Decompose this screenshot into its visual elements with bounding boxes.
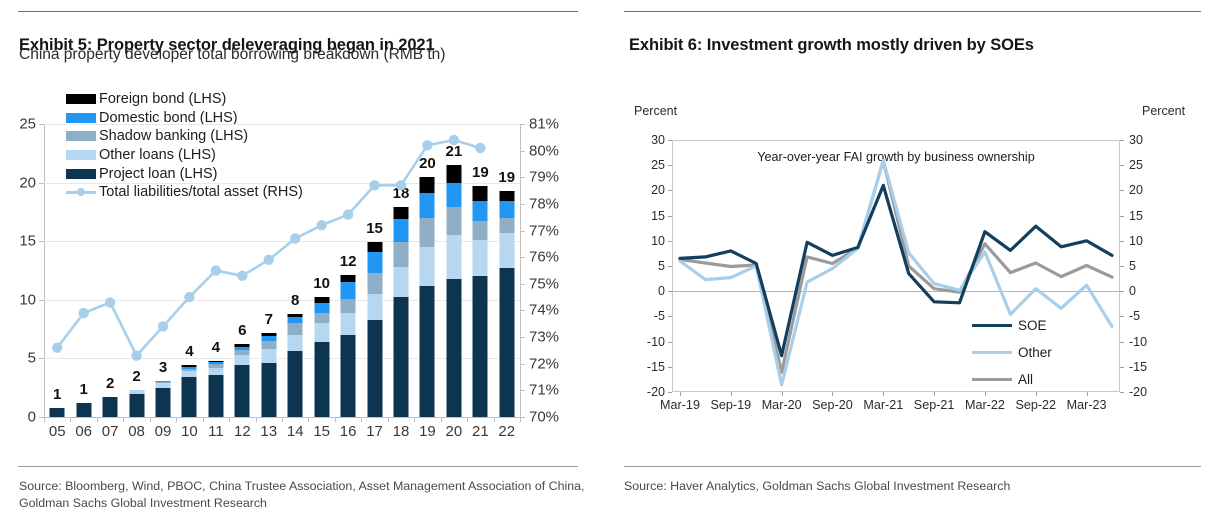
panel-bottom-rule <box>624 466 1201 467</box>
chart1-ratio-line <box>44 124 520 417</box>
ratio-line-marker <box>105 297 115 307</box>
x-axis-tick-label: 16 <box>340 423 357 440</box>
axis-tick <box>934 392 935 396</box>
legend-line-soe <box>972 324 1012 327</box>
legend-swatch <box>66 94 96 104</box>
y-axis-tick-label: 15 <box>19 233 36 250</box>
x-axis-tick-label: 19 <box>419 423 436 440</box>
y-axis-tick-label: 30 <box>651 133 665 147</box>
y2-axis-tick-label: 72% <box>529 355 559 372</box>
panel-top-rule <box>624 11 1201 12</box>
axis-tick <box>520 177 525 178</box>
y-axis-tick-label: 0 <box>28 409 36 426</box>
y-axis-tick-label: -5 <box>654 309 665 323</box>
ratio-line-marker <box>449 135 459 145</box>
axis-tick <box>388 417 389 422</box>
y-axis-tick-label: -10 <box>647 335 665 349</box>
ratio-line-marker <box>158 321 168 331</box>
x-axis-tick-label: 17 <box>366 423 383 440</box>
x-axis-tick-label: 21 <box>472 423 489 440</box>
x-axis-tick-label: Sep-22 <box>1015 398 1056 412</box>
y-axis-tick-label: -15 <box>647 360 665 374</box>
legend-item: All <box>972 366 1052 393</box>
y2-axis-tick-label: 74% <box>529 302 559 319</box>
y2-axis-tick-label: 78% <box>529 195 559 212</box>
y2-axis-tick-label: -20 <box>1129 385 1147 399</box>
axis-tick <box>1120 216 1124 217</box>
x-axis-tick-label: 20 <box>446 423 463 440</box>
chart-subtitle: China property developer total borrowing… <box>19 46 445 64</box>
axis-tick <box>123 417 124 422</box>
axis-tick <box>150 417 151 422</box>
x-axis-tick-label: 12 <box>234 423 251 440</box>
axis-tick <box>1087 392 1088 396</box>
ratio-line-marker <box>317 220 327 230</box>
page-title: Exhibit 6: Investment growth mostly driv… <box>629 36 1034 55</box>
legend-label: All <box>1018 372 1033 387</box>
axis-tick <box>70 417 71 422</box>
axis-tick <box>256 417 257 422</box>
axis-tick <box>1120 140 1124 141</box>
x-axis-tick-label: Mar-19 <box>660 398 700 412</box>
y2-axis-tick-label: 30 <box>1129 133 1143 147</box>
ratio-line-marker <box>422 140 432 150</box>
x-axis-tick-label: 14 <box>287 423 304 440</box>
legend-item: SOE <box>972 312 1052 339</box>
x-axis-tick-label: Mar-20 <box>762 398 802 412</box>
y2-axis-tick-label: 75% <box>529 275 559 292</box>
axis-tick <box>441 417 442 422</box>
legend-label: Other <box>1018 345 1052 360</box>
ratio-line-marker <box>290 233 300 243</box>
axis-tick <box>520 124 525 125</box>
exhibit-page: Exhibit 5: Property sector deleveraging … <box>0 0 1209 522</box>
legend-line-all <box>972 378 1012 381</box>
exhibit-5-panel: Exhibit 5: Property sector deleveraging … <box>0 0 600 522</box>
y-axis-tick-label: 20 <box>19 174 36 191</box>
x-axis-tick-label: 06 <box>75 423 92 440</box>
axis-tick <box>1120 316 1124 317</box>
x-axis-tick-label: Mar-21 <box>863 398 903 412</box>
y-axis-tick-label: 15 <box>651 209 665 223</box>
axis-tick <box>731 392 732 396</box>
legend-line-other <box>972 351 1012 354</box>
y2-axis-tick-label: 79% <box>529 169 559 186</box>
y2-axis-tick-label: 71% <box>529 382 559 399</box>
axis-tick <box>680 392 681 396</box>
x-axis-tick-label: 08 <box>128 423 145 440</box>
axis-tick <box>361 417 362 422</box>
y2-axis-tick-label: 81% <box>529 116 559 133</box>
legend-swatch <box>66 113 96 123</box>
y2-axis-tick-label: 80% <box>529 142 559 159</box>
legend-label: Foreign bond (LHS) <box>99 91 226 107</box>
x-axis-tick-label: 10 <box>181 423 198 440</box>
ratio-line-path <box>57 140 480 356</box>
axis-tick <box>520 364 525 365</box>
y2-axis-tick-label: 20 <box>1129 183 1143 197</box>
axis-tick <box>1120 266 1124 267</box>
axis-tick <box>520 337 525 338</box>
x-axis-tick-label: Sep-20 <box>812 398 853 412</box>
ratio-line-marker <box>343 209 353 219</box>
ratio-line-marker <box>184 292 194 302</box>
x-axis-tick-label: Mar-22 <box>965 398 1005 412</box>
fai-growth-chart: Year-over-year FAI growth by business ow… <box>672 140 1120 392</box>
y2-axis-tick-label: -15 <box>1129 360 1147 374</box>
ratio-line-marker <box>211 265 221 275</box>
x-axis-tick-label: Sep-19 <box>711 398 752 412</box>
y-axis-tick-label: -20 <box>647 385 665 399</box>
x-axis-tick-label: 18 <box>393 423 410 440</box>
chart2-right-unit-label: Percent <box>1142 104 1185 118</box>
x-axis-tick-label: 11 <box>208 423 224 440</box>
axis-tick <box>1120 165 1124 166</box>
y2-axis-tick-label: 73% <box>529 329 559 346</box>
axis-tick <box>1120 241 1124 242</box>
ratio-line-marker <box>369 180 379 190</box>
y2-axis-tick-label: 70% <box>529 409 559 426</box>
ratio-line-marker <box>396 180 406 190</box>
source-note: Source: Bloomberg, Wind, PBOC, China Tru… <box>19 478 594 512</box>
axis-tick <box>668 392 672 393</box>
axis-tick <box>1120 342 1124 343</box>
chart2-series-lines <box>672 140 1120 392</box>
property-borrowing-chart: 0510152025 70%71%72%73%74%75%76%77%78%79… <box>44 124 520 417</box>
ratio-line-marker <box>237 271 247 281</box>
legend-item: Other <box>972 339 1052 366</box>
axis-tick <box>520 204 525 205</box>
x-axis-tick-label: 15 <box>313 423 330 440</box>
axis-tick <box>782 392 783 396</box>
y-axis-tick-label: 25 <box>651 158 665 172</box>
axis-tick <box>883 392 884 396</box>
axis-tick <box>494 417 495 422</box>
chart1-right-axis <box>520 124 521 417</box>
y-axis-tick-label: 25 <box>19 116 36 133</box>
axis-tick <box>282 417 283 422</box>
x-axis-tick-label: 09 <box>155 423 172 440</box>
axis-tick <box>203 417 204 422</box>
axis-tick <box>520 284 525 285</box>
axis-tick <box>414 417 415 422</box>
x-axis-tick-label: 13 <box>260 423 277 440</box>
x-axis-tick-label: 07 <box>102 423 119 440</box>
y-axis-tick-label: 20 <box>651 183 665 197</box>
y2-axis-tick-label: 15 <box>1129 209 1143 223</box>
ratio-line-marker <box>264 255 274 265</box>
y-axis-tick-label: 5 <box>658 259 665 273</box>
x-axis-tick-label: Sep-21 <box>914 398 955 412</box>
y2-axis-tick-label: 10 <box>1129 234 1143 248</box>
axis-tick <box>520 390 525 391</box>
y2-axis-tick-label: -10 <box>1129 335 1147 349</box>
x-axis-tick-label: 22 <box>498 423 515 440</box>
legend-item: Foreign bond (LHS) <box>66 90 303 109</box>
y2-axis-tick-label: 76% <box>529 249 559 266</box>
chart2-left-unit-label: Percent <box>634 104 677 118</box>
axis-tick <box>308 417 309 422</box>
axis-tick <box>229 417 230 422</box>
axis-tick <box>44 417 45 422</box>
ratio-line-marker <box>131 351 141 361</box>
axis-tick <box>520 257 525 258</box>
y2-axis-tick-label: 77% <box>529 222 559 239</box>
legend-label: SOE <box>1018 318 1047 333</box>
y-axis-tick-label: 5 <box>28 350 36 367</box>
panel-bottom-rule <box>18 466 578 467</box>
chart2-legend: SOEOtherAll <box>972 312 1052 393</box>
y2-axis-tick-label: 25 <box>1129 158 1143 172</box>
axis-tick <box>520 231 525 232</box>
axis-tick <box>520 310 525 311</box>
axis-tick <box>520 151 525 152</box>
ratio-line-marker <box>475 143 485 153</box>
y2-axis-tick-label: 0 <box>1129 284 1136 298</box>
y2-axis-tick-label: 5 <box>1129 259 1136 273</box>
y2-axis-tick-label: -5 <box>1129 309 1140 323</box>
axis-tick <box>520 417 521 422</box>
x-axis-tick-label: 05 <box>49 423 66 440</box>
axis-tick <box>1120 291 1124 292</box>
axis-tick <box>1120 190 1124 191</box>
axis-tick <box>176 417 177 422</box>
axis-tick <box>97 417 98 422</box>
y-axis-tick-label: 10 <box>651 234 665 248</box>
axis-tick <box>467 417 468 422</box>
ratio-line-marker <box>52 343 62 353</box>
source-note: Source: Haver Analytics, Goldman Sachs G… <box>624 478 1184 495</box>
y-axis-tick-label: 10 <box>19 291 36 308</box>
x-axis-tick-label: Mar-23 <box>1067 398 1107 412</box>
y-axis-tick-label: 0 <box>658 284 665 298</box>
axis-tick <box>1120 367 1124 368</box>
axis-tick <box>832 392 833 396</box>
axis-tick <box>1120 392 1124 393</box>
ratio-line-marker <box>79 308 89 318</box>
axis-tick <box>335 417 336 422</box>
panel-top-rule <box>18 11 578 12</box>
